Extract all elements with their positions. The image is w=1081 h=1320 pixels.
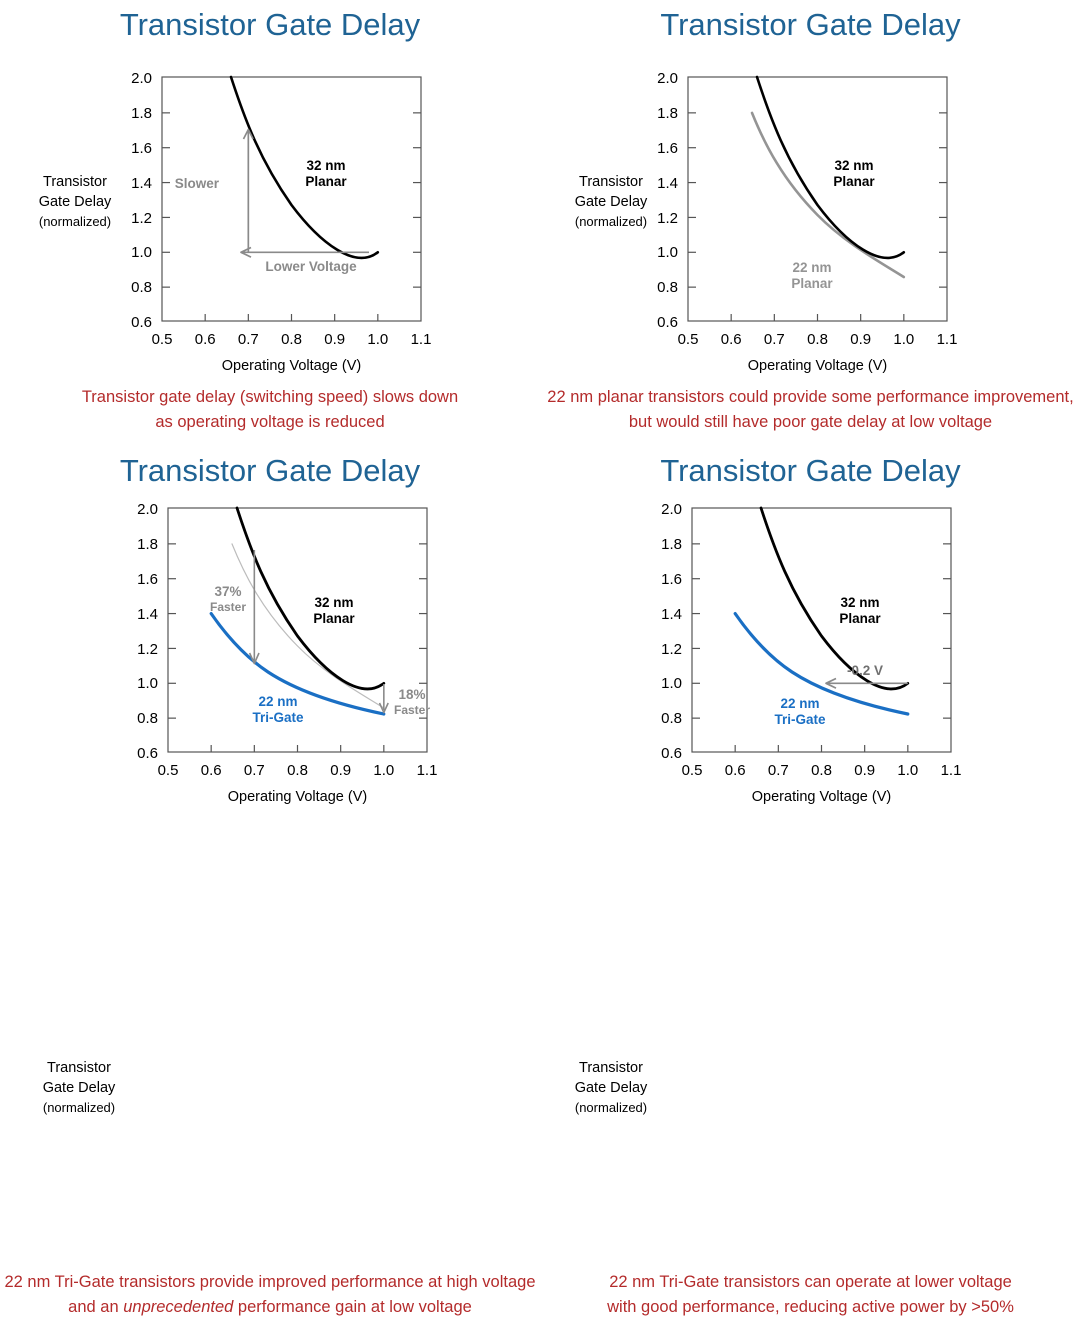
x-tick-labels: 0.5 0.6 0.7 0.8 0.9 1.0 1.1 (682, 762, 962, 779)
x-tick-label: 1.0 (373, 762, 394, 779)
four-panel-chart-grid: Transistor Gate Delay Transistor Gate De… (0, 0, 1081, 892)
series-line-32nm-planar (761, 508, 908, 689)
plot-frame (162, 77, 421, 321)
x-axis-label: Operating Voltage (V) (162, 358, 421, 374)
x-tick-label: 0.5 (682, 762, 703, 779)
x-tick-label: 0.9 (324, 331, 345, 348)
caption-post: performance gain at low voltage (233, 1298, 471, 1316)
y-axis-label: Transistor Gate Delay (normalized) (20, 1058, 138, 1118)
y-tick-label: 1.2 (137, 641, 158, 658)
faster-18-label-line1: 18% (398, 687, 425, 702)
x-tick-label: 1.0 (897, 762, 918, 779)
series-label-22nm-trigate-line2: Tri-Gate (252, 710, 304, 725)
panel-caption-line2: and an unprecedented performance gain at… (0, 1295, 540, 1320)
x-tick-label: 0.9 (854, 762, 875, 779)
x-tick-label: 0.9 (330, 762, 351, 779)
panel-transistor-gate-delay-2: Transistor Gate Delay Transistor Gate De… (540, 0, 1081, 446)
y-tick-labels: 2.0 1.8 1.6 1.4 1.2 1.0 0.8 0.6 (661, 501, 682, 762)
x-tick-label: 0.7 (244, 762, 265, 779)
x-tick-label: 0.6 (725, 762, 746, 779)
panel-caption: 22 nm planar transistors could provide s… (540, 385, 1081, 435)
y-tick-label: 2.0 (661, 501, 682, 518)
x-tick-label: 1.1 (937, 331, 958, 348)
x-tick-label: 1.0 (367, 331, 388, 348)
y-tick-label: 1.0 (137, 675, 158, 692)
y-tick-label: 1.2 (657, 210, 678, 227)
y-tick-label: 1.0 (131, 244, 152, 261)
series-label-22nm-planar-line1: 22 nm (792, 260, 831, 275)
y-tick-label: 0.8 (657, 279, 678, 296)
panel-caption-line1: 22 nm Tri-Gate transistors provide impro… (0, 1270, 540, 1295)
y-tick-label: 1.2 (131, 210, 152, 227)
y-tick-label: 1.4 (657, 175, 678, 192)
panel-caption: 22 nm Tri-Gate transistors provide impro… (0, 1270, 540, 1320)
faster-37-label-line2: Faster (210, 600, 246, 614)
series-label-32nm-planar-line1: 32 nm (840, 595, 879, 610)
faster-18-arrow-icon (380, 684, 389, 713)
panel-caption-line1: 22 nm planar transistors could provide s… (540, 385, 1081, 410)
x-tick-labels: 0.5 0.6 0.7 0.8 0.9 1.0 1.1 (678, 331, 958, 348)
lower-voltage-label: Lower Voltage (265, 259, 357, 274)
panel-caption-line1: 22 nm Tri-Gate transistors can operate a… (540, 1270, 1081, 1295)
y-axis-label-line3: (normalized) (552, 1098, 670, 1118)
panel-transistor-gate-delay-3: Transistor Gate Delay Transistor Gate De… (0, 446, 540, 892)
y-tick-labels: 2.0 1.8 1.6 1.4 1.2 1.0 0.8 0.6 (137, 501, 158, 762)
x-tick-label: 0.5 (158, 762, 179, 779)
panel-caption: Transistor gate delay (switching speed) … (0, 385, 540, 435)
voltage-delta-label: -0.2 V (847, 663, 883, 678)
x-axis-label: Operating Voltage (V) (692, 789, 951, 805)
x-tick-label: 1.1 (941, 762, 962, 779)
caption-pre: and an (68, 1298, 123, 1316)
y-axis-label-line1: Transistor (20, 1058, 138, 1078)
y-tick-label: 0.6 (657, 314, 678, 331)
slower-label: Slower (175, 176, 220, 191)
x-tick-marks (211, 745, 384, 752)
x-tick-label: 0.5 (152, 331, 173, 348)
y-tick-label: 0.8 (131, 279, 152, 296)
series-line-32nm-planar (231, 77, 378, 258)
x-axis-label: Operating Voltage (V) (688, 358, 947, 374)
series-label-22nm-trigate-line1: 22 nm (780, 696, 819, 711)
panel-caption-line2: but would still have poor gate delay at … (540, 410, 1081, 435)
chart-svg-4: 2.0 1.8 1.6 1.4 1.2 1.0 0.8 0.6 0.5 0.6 … (540, 446, 1081, 892)
x-tick-label: 0.6 (201, 762, 222, 779)
y-tick-label: 1.6 (661, 571, 682, 588)
x-tick-labels: 0.5 0.6 0.7 0.8 0.9 1.0 1.1 (158, 762, 438, 779)
x-tick-marks (731, 314, 904, 321)
y-tick-label: 0.8 (137, 710, 158, 727)
x-tick-label: 0.8 (287, 762, 308, 779)
x-tick-label: 0.7 (764, 331, 785, 348)
x-tick-label: 0.7 (768, 762, 789, 779)
x-tick-label: 0.6 (195, 331, 216, 348)
panel-caption-line2: as operating voltage is reduced (0, 410, 540, 435)
x-tick-labels: 0.5 0.6 0.7 0.8 0.9 1.0 1.1 (152, 331, 432, 348)
x-tick-label: 0.8 (811, 762, 832, 779)
y-tick-label: 1.4 (131, 175, 152, 192)
faster-37-label-line1: 37% (214, 584, 241, 599)
series-label-32nm-planar-line2: Planar (833, 174, 875, 189)
series-label-22nm-trigate-line1: 22 nm (258, 694, 297, 709)
series-label-32nm-planar-line1: 32 nm (306, 158, 345, 173)
y-axis-label-line2: Gate Delay (552, 1078, 670, 1098)
y-tick-label: 2.0 (657, 70, 678, 87)
y-tick-labels: 2.0 1.8 1.6 1.4 1.2 1.0 0.8 0.6 (657, 70, 678, 331)
y-tick-label: 1.6 (657, 140, 678, 157)
y-tick-label: 0.8 (661, 710, 682, 727)
y-axis-label-line3: (normalized) (20, 1098, 138, 1118)
series-label-22nm-trigate-line2: Tri-Gate (774, 712, 826, 727)
panel-caption: 22 nm Tri-Gate transistors can operate a… (540, 1270, 1081, 1320)
y-axis-label-line1: Transistor (552, 1058, 670, 1078)
x-tick-label: 0.5 (678, 331, 699, 348)
series-label-32nm-planar-line1: 32 nm (314, 595, 353, 610)
panel-caption-line1: Transistor gate delay (switching speed) … (0, 385, 540, 410)
series-label-22nm-planar-line2: Planar (791, 276, 833, 291)
series-label-32nm-planar-line2: Planar (839, 611, 881, 626)
x-tick-label: 0.6 (721, 331, 742, 348)
x-tick-marks (735, 745, 908, 752)
chart-svg-3: 2.0 1.8 1.6 1.4 1.2 1.0 0.8 0.6 0.5 0.6 … (0, 446, 540, 892)
y-tick-label: 0.6 (137, 745, 158, 762)
y-tick-label: 1.8 (131, 105, 152, 122)
y-tick-label: 0.6 (131, 314, 152, 331)
x-axis-label: Operating Voltage (V) (168, 789, 427, 805)
y-tick-label: 2.0 (137, 501, 158, 518)
x-tick-label: 1.1 (411, 331, 432, 348)
y-tick-label: 2.0 (131, 70, 152, 87)
y-tick-label: 1.6 (137, 571, 158, 588)
x-tick-label: 1.1 (417, 762, 438, 779)
caption-emphasis: unprecedented (123, 1298, 233, 1316)
y-tick-label: 1.0 (657, 244, 678, 261)
series-line-22nm-planar (752, 113, 904, 277)
series-label-32nm-planar-line2: Planar (305, 174, 347, 189)
y-tick-label: 1.0 (661, 675, 682, 692)
y-tick-label: 1.2 (661, 641, 682, 658)
y-tick-label: 1.8 (661, 536, 682, 553)
y-axis-label: Transistor Gate Delay (normalized) (552, 1058, 670, 1118)
x-tick-label: 0.8 (281, 331, 302, 348)
chart-svg-2: 2.0 1.8 1.6 1.4 1.2 1.0 0.8 0.6 0.5 0.6 … (540, 0, 1081, 446)
x-tick-label: 0.8 (807, 331, 828, 348)
x-tick-label: 0.9 (850, 331, 871, 348)
slower-arrow-icon (244, 130, 254, 253)
panel-transistor-gate-delay-4: Transistor Gate Delay Transistor Gate De… (540, 446, 1081, 892)
panel-transistor-gate-delay-1: Transistor Gate Delay Transistor Gate De… (0, 0, 540, 446)
chart-svg-1: 2.0 1.8 1.6 1.4 1.2 1.0 0.8 0.6 0.5 0.6 … (0, 0, 540, 446)
y-tick-label: 0.6 (661, 745, 682, 762)
y-tick-label: 1.6 (131, 140, 152, 157)
x-tick-label: 0.7 (238, 331, 259, 348)
series-label-32nm-planar-line2: Planar (313, 611, 355, 626)
y-tick-marks (168, 544, 427, 718)
x-tick-marks (205, 314, 378, 321)
x-tick-label: 1.0 (893, 331, 914, 348)
y-tick-marks (692, 544, 951, 718)
y-tick-label: 1.4 (137, 606, 158, 623)
series-label-32nm-planar-line1: 32 nm (834, 158, 873, 173)
y-tick-label: 1.8 (137, 536, 158, 553)
panel-caption-line2: with good performance, reducing active p… (540, 1295, 1081, 1320)
y-tick-label: 1.8 (657, 105, 678, 122)
y-tick-label: 1.4 (661, 606, 682, 623)
y-tick-labels: 2.0 1.8 1.6 1.4 1.2 1.0 0.8 0.6 (131, 70, 152, 331)
y-axis-label-line2: Gate Delay (20, 1078, 138, 1098)
faster-18-label-line2: Faster (394, 703, 430, 717)
